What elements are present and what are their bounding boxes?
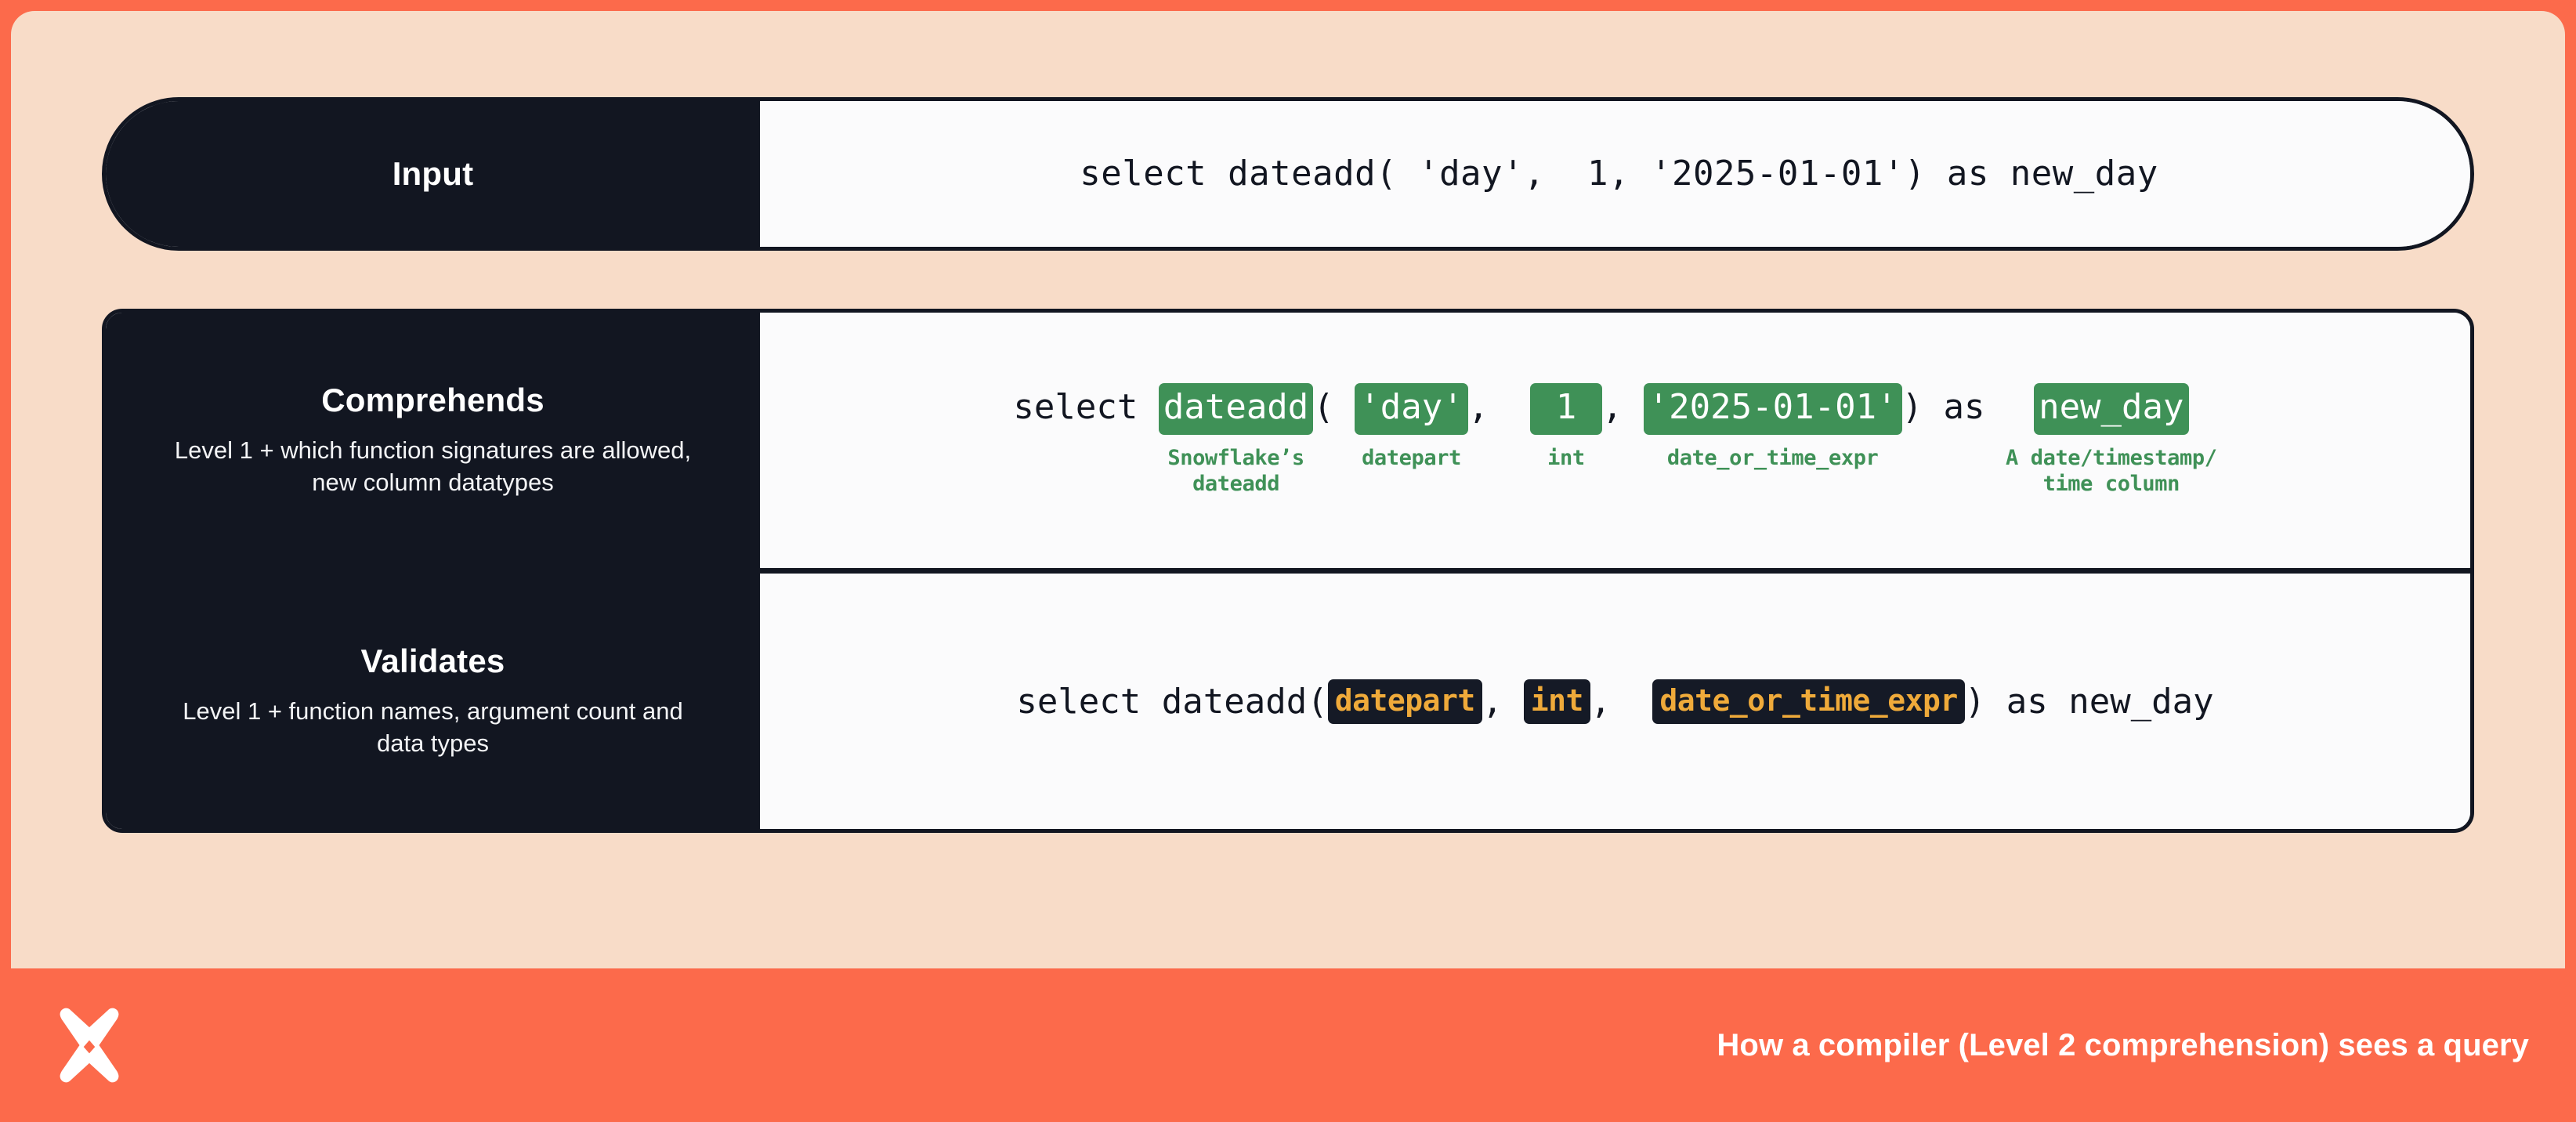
plain-token: , (1590, 682, 1652, 722)
highlighted-token: '2025-01-01' (1644, 383, 1902, 435)
comprehends-code-pane: select dateaddSnowflake’s dateadd( 'day'… (760, 313, 2470, 568)
comprehends-label: Comprehends (321, 382, 545, 420)
comprehends-label-pane: Comprehends Level 1 + which function sig… (106, 313, 760, 568)
validates-row: Validates Level 1 + function names, argu… (106, 574, 2470, 829)
plain-token: select dateadd( (1016, 682, 1327, 722)
plain-token: , (1602, 383, 1644, 429)
input-code-pane: select dateadd( 'day', 1, '2025-01-01') … (760, 101, 2470, 247)
footer-caption: How a compiler (Level 2 comprehension) s… (1717, 1028, 2529, 1063)
signature-badge: date_or_time_expr (1652, 679, 1964, 724)
code-token-group: ) as (1902, 383, 2006, 429)
token-annotation: Snowflake’s dateadd (1167, 446, 1304, 498)
code-token-group: select (1013, 383, 1158, 429)
validates-label-pane: Validates Level 1 + function names, argu… (106, 574, 760, 829)
highlighted-token: 'day' (1355, 383, 1467, 435)
highlighted-token: dateadd (1159, 383, 1313, 435)
signature-badge: int (1524, 679, 1590, 724)
input-row: Input select dateadd( 'day', 1, '2025-01… (102, 97, 2474, 251)
token-annotation: datepart (1362, 446, 1461, 472)
token-annotation: date_or_time_expr (1667, 446, 1879, 472)
validates-code-pane: select dateadd(datepart, int, date_or_ti… (760, 574, 2470, 829)
code-token-group: , (1602, 383, 1644, 429)
plain-token: , (1482, 682, 1524, 722)
footer-bar: How a compiler (Level 2 comprehension) s… (0, 968, 2576, 1122)
code-token-group: '2025-01-01'date_or_time_expr (1644, 383, 1902, 472)
code-token-group: ( (1313, 383, 1355, 429)
code-token-group: , (1468, 383, 1530, 429)
plain-token: , (1468, 383, 1530, 429)
plain-token: ( (1313, 383, 1355, 429)
validates-signature-code: select dateadd(datepart, int, date_or_ti… (1016, 679, 2213, 724)
plain-token: ) as new_day (1965, 682, 2214, 722)
code-token-group: 'day'datepart (1355, 383, 1467, 472)
comprehends-row: Comprehends Level 1 + which function sig… (106, 313, 2470, 568)
input-code: select dateadd( 'day', 1, '2025-01-01') … (1080, 154, 2158, 195)
row-divider (106, 568, 2470, 574)
highlighted-token: new_day (2034, 383, 2188, 435)
plain-token: ) as (1902, 383, 2006, 429)
butterfly-x-logo-icon (49, 1004, 130, 1086)
content-stage: Input select dateadd( 'day', 1, '2025-01… (11, 11, 2565, 968)
input-label-pane: Input (106, 101, 760, 247)
plain-token: select (1013, 383, 1158, 429)
code-token-group: 1 int (1530, 383, 1601, 472)
comprehends-sublabel: Level 1 + which function signatures are … (175, 435, 692, 499)
infographic-frame: Input select dateadd( 'day', 1, '2025-01… (0, 0, 2576, 1122)
input-label: Input (393, 155, 474, 194)
signature-badge: datepart (1328, 679, 1482, 724)
validates-sublabel: Level 1 + function names, argument count… (175, 696, 692, 760)
token-annotation: int (1547, 446, 1585, 472)
code-token-group: dateaddSnowflake’s dateadd (1159, 383, 1313, 498)
code-token-group: new_dayA date/timestamp/ time column (2006, 383, 2217, 498)
validates-label: Validates (361, 642, 505, 681)
comprehends-annotated-code: select dateaddSnowflake’s dateadd( 'day'… (1013, 383, 2216, 498)
levels-card: Comprehends Level 1 + which function sig… (102, 309, 2474, 833)
highlighted-token: 1 (1530, 383, 1601, 435)
token-annotation: A date/timestamp/ time column (2006, 446, 2217, 498)
